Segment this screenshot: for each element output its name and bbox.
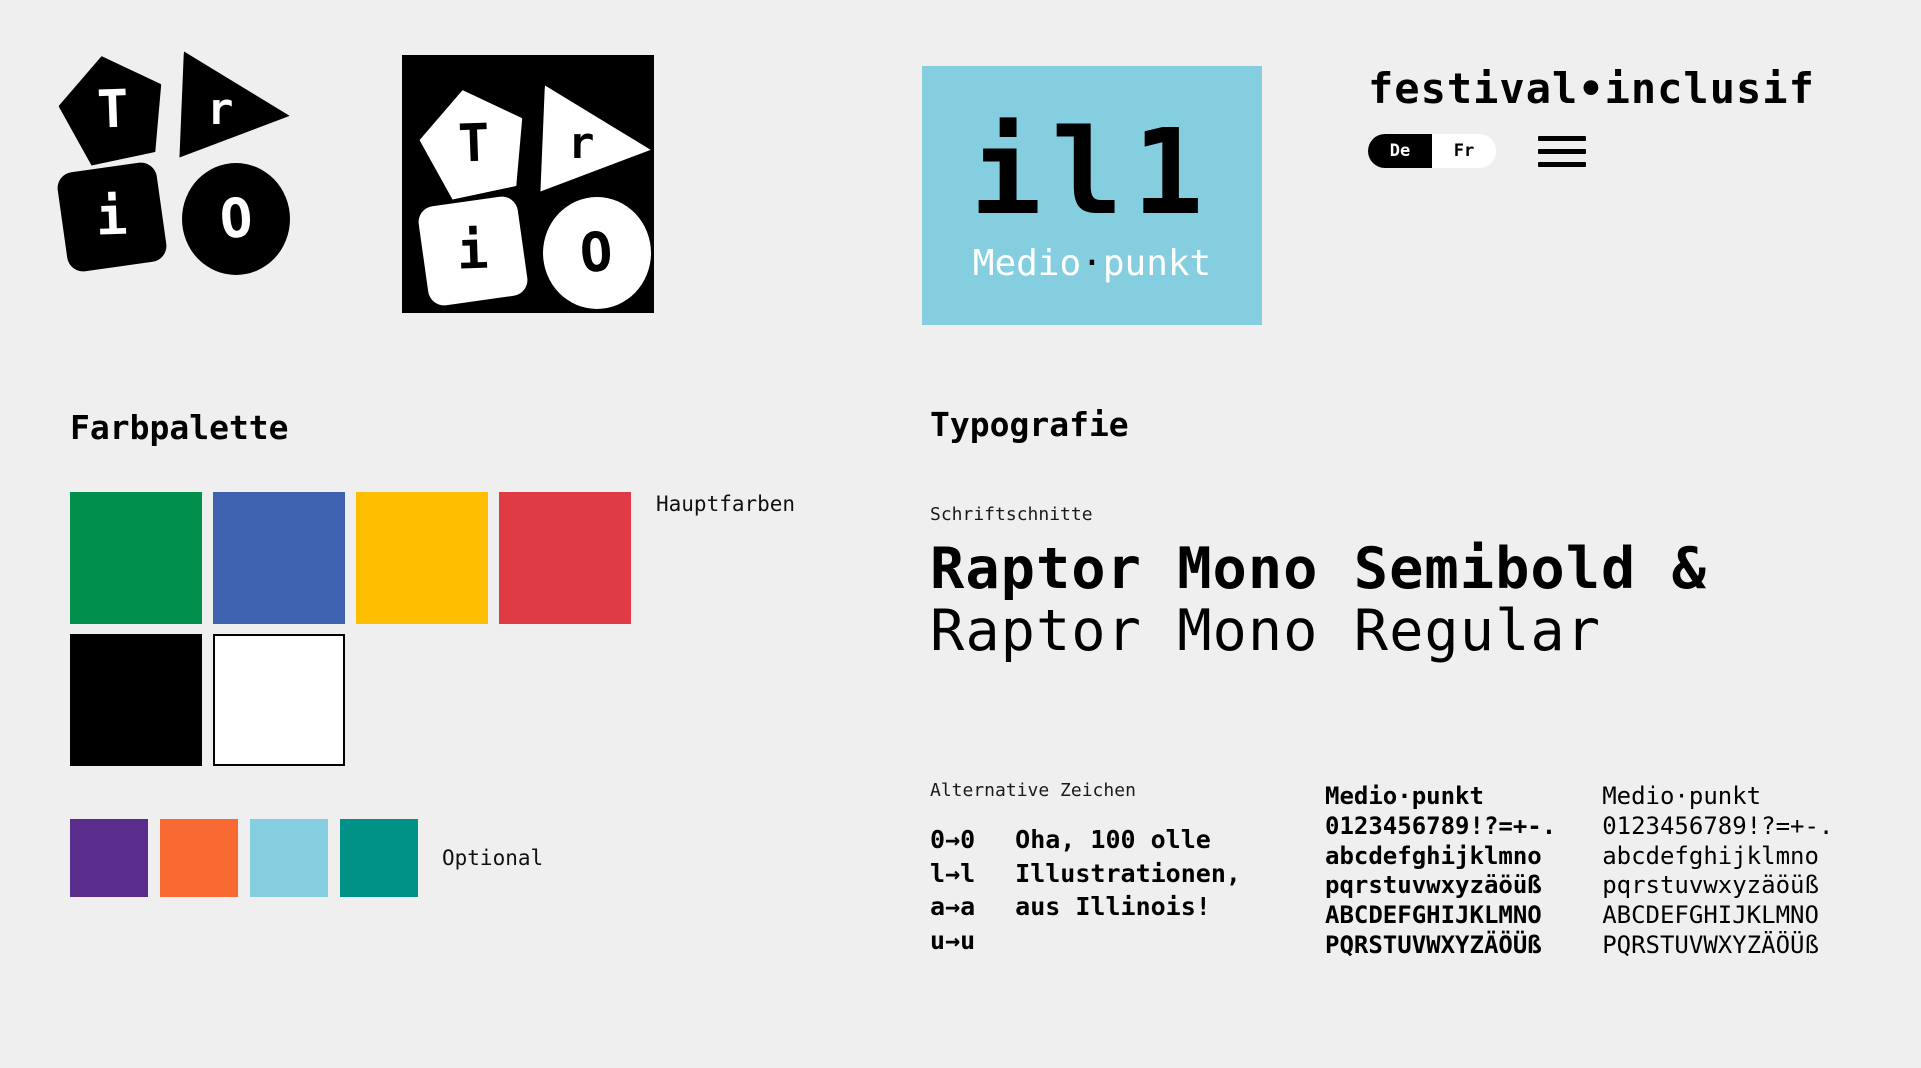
palette-row-label-optional: Optional: [442, 846, 543, 870]
hamburger-line-2: [1538, 149, 1586, 154]
hamburger-line-1: [1538, 136, 1586, 141]
logo-mark-inverted: T r i O: [421, 89, 636, 279]
logo-letter-t: T: [96, 83, 129, 136]
typography-section: Typografie Schriftschnitte Raptor Mono S…: [930, 405, 1890, 662]
typography-weights-label: Schriftschnitte: [930, 504, 1890, 525]
alternate-characters-area: Alternative Zeichen 0→0 l→l a→a u→u Oha,…: [930, 780, 1310, 957]
swatch-orange[interactable]: [160, 819, 238, 897]
swatch-green[interactable]: [70, 492, 202, 624]
mediopunkt-middot-icon: ·: [1081, 243, 1103, 284]
logo-letter-r: r: [207, 88, 234, 132]
palette-row-hauptfarben: Hauptfarben: [70, 492, 830, 624]
alternate-sample-text: Oha, 100 olle Illustrationen, aus Illino…: [1015, 823, 1241, 957]
logo-shape-pentagon-inverted: T: [411, 79, 536, 204]
logo-shape-circle-inverted: O: [543, 197, 651, 309]
mediopunkt-word-left: Medio: [973, 243, 1081, 284]
lang-option-de[interactable]: De: [1368, 134, 1432, 168]
site-title: festival•inclusif: [1368, 68, 1868, 110]
swatch-teal[interactable]: [340, 819, 418, 897]
mediopunkt-wordmark: Medio·punkt: [973, 243, 1211, 284]
logo-letter-i-inverted: i: [456, 224, 489, 277]
swatch-black[interactable]: [70, 634, 202, 766]
logo-row: T r i O T r i: [60, 55, 654, 313]
palette-heading: Farbpalette: [70, 408, 830, 447]
lang-option-fr[interactable]: Fr: [1432, 134, 1496, 168]
logo-shape-triangle: r: [173, 51, 295, 168]
swatch-light-blue[interactable]: [250, 819, 328, 897]
mediopunkt-specimen: il1: [970, 113, 1213, 231]
swatch-purple[interactable]: [70, 819, 148, 897]
alternate-characters-column: Alternative Zeichen 0→0 l→l a→a u→u Oha,…: [930, 780, 1310, 957]
hamburger-menu-icon[interactable]: [1538, 136, 1586, 167]
language-toggle[interactable]: De Fr: [1368, 134, 1496, 168]
charset-semibold: Medio·punkt 0123456789!?=+-. abcdefghijk…: [1325, 782, 1556, 961]
typography-specimen-regular: Raptor Mono Regular: [930, 601, 1890, 663]
typography-specimen-semibold: Raptor Mono Semibold &: [930, 539, 1890, 601]
alternate-characters-label: Alternative Zeichen: [930, 780, 1310, 801]
swatch-yellow[interactable]: [356, 492, 488, 624]
site-header: festival•inclusif De Fr: [1368, 68, 1868, 168]
logo-letter-i: i: [95, 190, 128, 243]
alternate-character-pairs: 0→0 l→l a→a u→u: [930, 823, 975, 957]
logo-letter-r-inverted: r: [567, 122, 594, 166]
logo-mark-light: T r i O: [60, 55, 310, 270]
palette-row-label-hauptfarben: Hauptfarben: [656, 492, 795, 516]
palette-row-optional: Optional: [70, 819, 830, 897]
swatch-red[interactable]: [499, 492, 631, 624]
logo-shape-triangle-inverted: r: [533, 85, 655, 202]
typography-heading: Typografie: [930, 405, 1890, 444]
logo-letter-o: O: [218, 191, 254, 247]
logo-letter-t-inverted: T: [457, 117, 490, 170]
mediopunkt-card: il1 Medio·punkt: [922, 66, 1262, 325]
mediopunkt-word-right: punkt: [1103, 243, 1211, 284]
hamburger-line-3: [1538, 162, 1586, 167]
logo-shape-rounded-square: i: [56, 161, 169, 274]
logo-card-inverted: T r i O: [402, 55, 654, 313]
style-guide-page: T r i O T r i: [0, 0, 1921, 1068]
charset-columns: Medio·punkt 0123456789!?=+-. abcdefghijk…: [1325, 782, 1833, 961]
logo-shape-pentagon: T: [50, 45, 175, 170]
header-controls: De Fr: [1368, 134, 1868, 168]
palette-row-neutral: [70, 634, 830, 766]
charset-regular: Medio·punkt 0123456789!?=+-. abcdefghijk…: [1602, 782, 1833, 961]
logo-shape-circle: O: [182, 163, 290, 275]
logo-shape-rounded-square-inverted: i: [416, 195, 529, 308]
palette-section: Farbpalette Hauptfarben Optional: [70, 408, 830, 897]
logo-letter-o-inverted: O: [578, 225, 614, 281]
swatch-blue[interactable]: [213, 492, 345, 624]
swatch-white[interactable]: [213, 634, 345, 766]
alternate-characters-grid: 0→0 l→l a→a u→u Oha, 100 olle Illustrati…: [930, 823, 1310, 957]
